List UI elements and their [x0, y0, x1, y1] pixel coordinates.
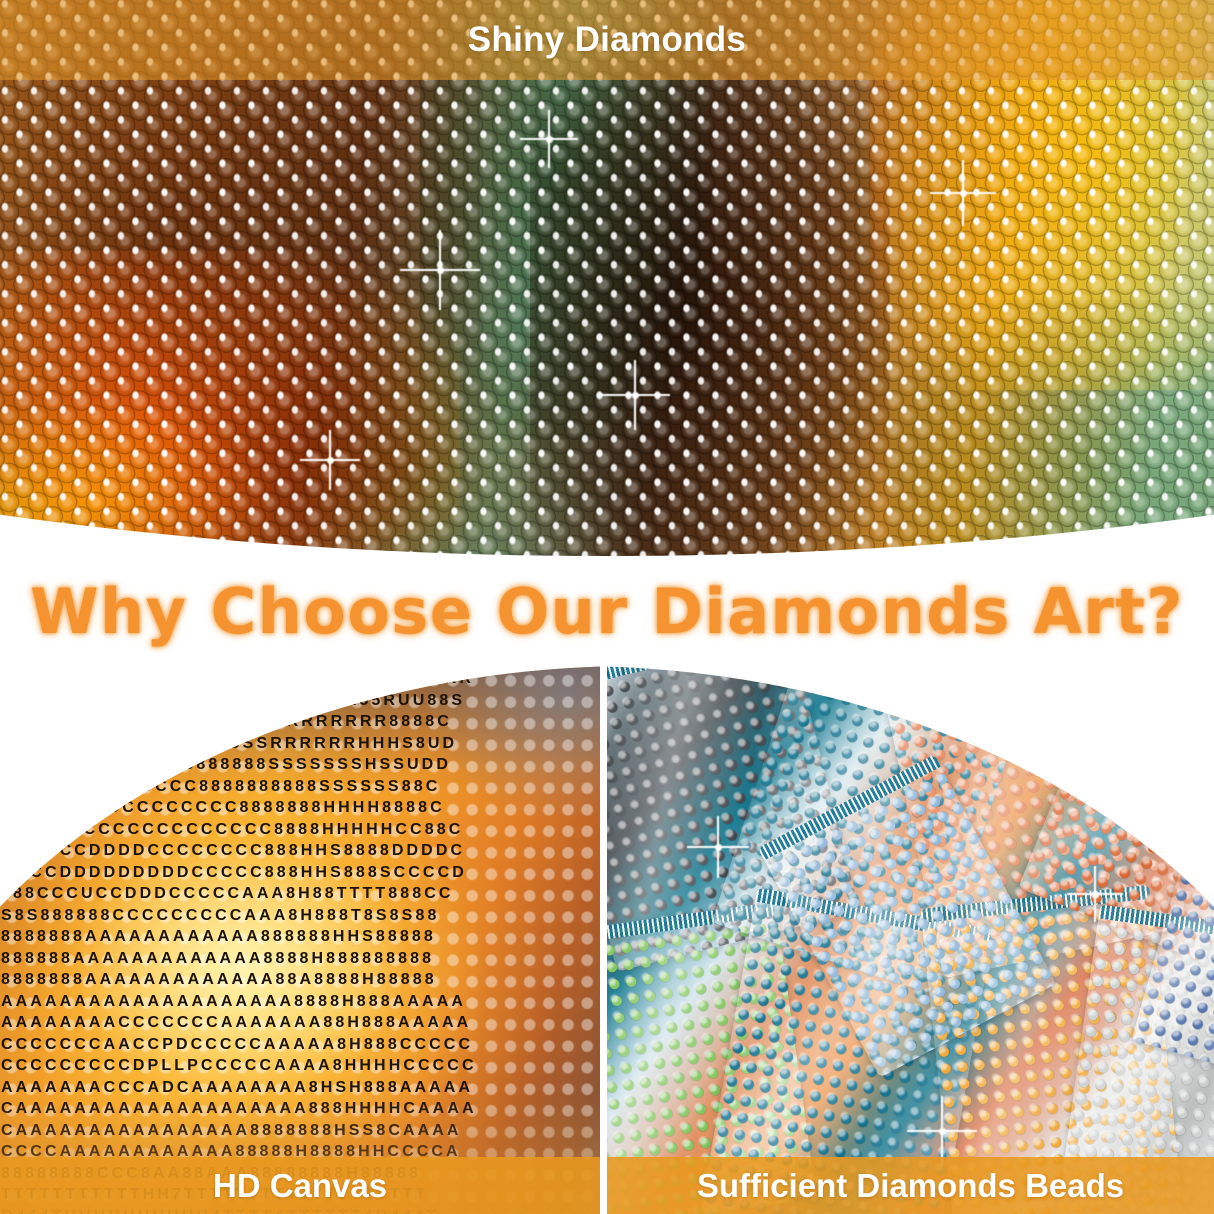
- page-title: Why Choose Our Diamonds Art?: [30, 575, 1184, 648]
- headline-section: Why Choose Our Diamonds Art?: [0, 556, 1214, 666]
- banner-title: Shiny Diamonds: [468, 20, 746, 60]
- panel-divider: [600, 666, 607, 1214]
- bead-highlight-layer-b: [0, 0, 1214, 556]
- bag-zip-seal: [875, 666, 1122, 669]
- bag-zip-seal: [809, 666, 1032, 693]
- diamond-beads-label-band: Sufficient Diamonds Beads: [607, 1157, 1214, 1214]
- diamond-beads-label: Sufficient Diamonds Beads: [697, 1167, 1124, 1205]
- hd-canvas-label: HD Canvas: [213, 1167, 387, 1205]
- features-row: RRRRRRRRRRRRRRRRRRRRRRRR5522RRRRRUU88SSS…: [0, 666, 1214, 1214]
- product-infographic: Shiny Diamonds Why Choose Our Diamonds A…: [0, 0, 1214, 1214]
- diamond-beads-panel: Sufficient Diamonds Beads: [607, 666, 1214, 1214]
- hd-canvas-panel: RRRRRRRRRRRRRRRRRRRRRRRR5522RRRRRUU88SSS…: [0, 666, 600, 1214]
- bag-zip-seal: [1125, 666, 1214, 697]
- shiny-diamonds-banner: Shiny Diamonds: [0, 0, 1214, 80]
- bag-zip-seal: [1205, 771, 1214, 826]
- hd-canvas-label-band: HD Canvas: [0, 1157, 600, 1214]
- shiny-diamonds-photo-panel: Shiny Diamonds: [0, 0, 1214, 556]
- bead-closeup-photo: [0, 0, 1214, 556]
